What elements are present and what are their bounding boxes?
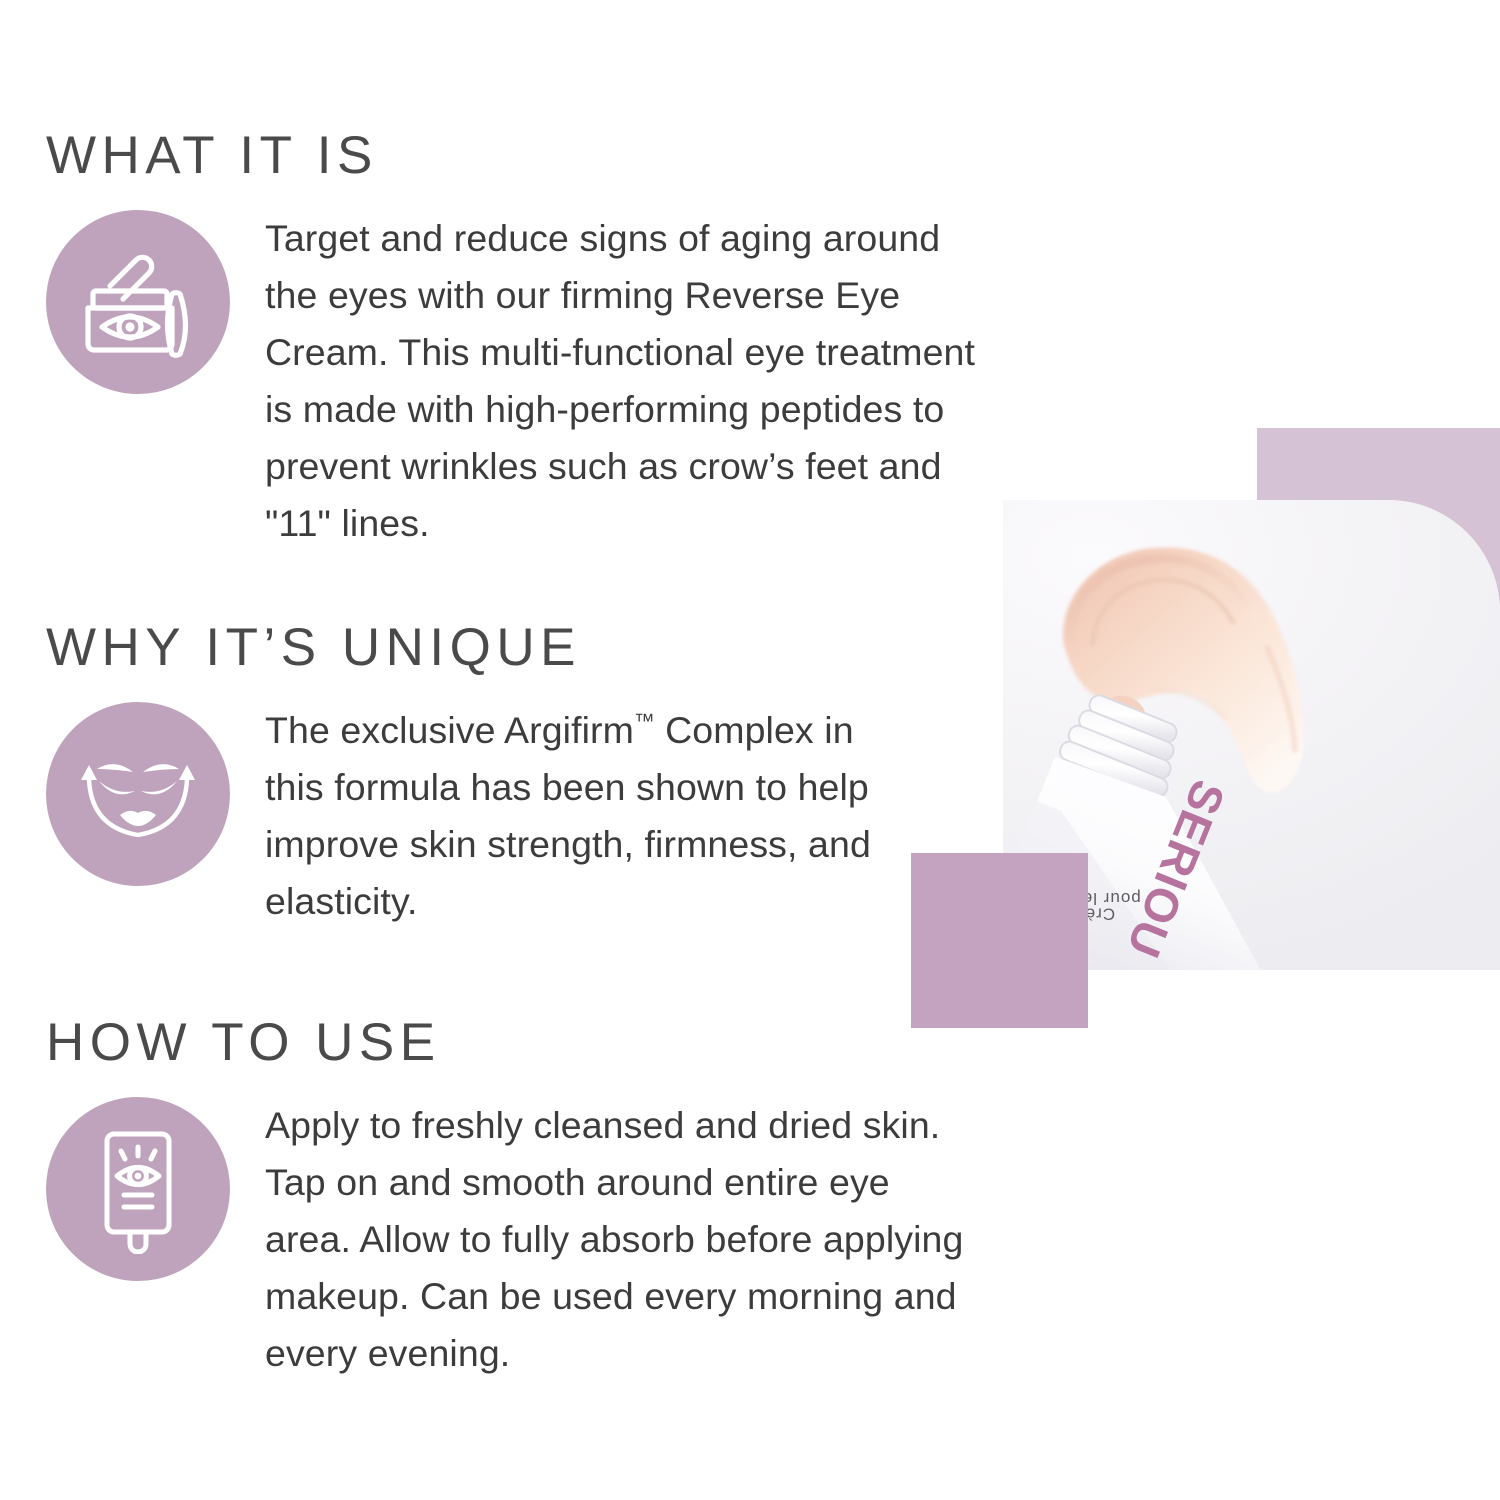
heading-how-to-use: HOW TO USE [46,1015,1010,1071]
section-how-to-use: HOW TO USE [0,1015,1010,1382]
lifted-face-icon [46,702,230,886]
eye-cream-jar-icon [46,210,230,394]
trademark-symbol: ™ [634,710,655,733]
heading-why-its-unique: WHY IT’S UNIQUE [46,620,1010,676]
eye-cream-tube-icon [46,1097,230,1281]
infographic-root: SERIOU pour les yeux Crème WHAT IT IS [0,0,1500,1500]
heading-what-it-is: WHAT IT IS [46,128,1010,184]
body-how-to-use: Apply to freshly cleansed and dried skin… [265,1097,980,1382]
body-what-it-is: Target and reduce signs of aging around … [265,210,1010,552]
section-why-its-unique: WHY IT’S UNIQUE [0,620,1010,930]
body-why-text-before-tm: The exclusive Argifirm [265,709,634,751]
body-why-its-unique: The exclusive Argifirm™ Complex in this … [265,702,905,930]
section-what-it-is: WHAT IT IS Target and red [0,128,1010,552]
